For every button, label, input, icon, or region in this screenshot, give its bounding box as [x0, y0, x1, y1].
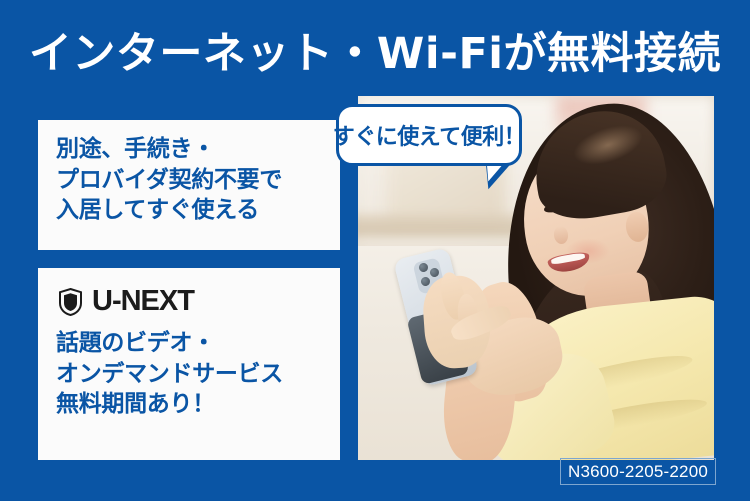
property-code: N3600-2205-2200	[568, 462, 708, 482]
unext-card: U-NEXT 話題のビデオ・ オンデマンドサービス 無料期間あり！	[38, 268, 340, 460]
speech-bubble-text: すぐに使えて便利！	[333, 119, 525, 151]
no-contract-card: 別途、手続き・ プロバイダ契約不要で 入居してすぐ使える	[38, 120, 340, 250]
wifi-promo-banner: インターネット・Wi-Fiが無料接続 別途、手続き・ プロバイダ契約不要で 入居…	[0, 0, 750, 501]
shield-icon	[58, 288, 83, 316]
unext-logo: U-NEXT	[58, 287, 322, 316]
unext-card-text: 話題のビデオ・ オンデマンドサービス 無料期間あり！	[56, 328, 322, 420]
property-code-box: N3600-2205-2200	[560, 458, 716, 485]
unext-logo-text: U-NEXT	[92, 287, 194, 316]
page-title: インターネット・Wi-Fiが無料接続	[0, 33, 750, 76]
speech-bubble: すぐに使えて便利！	[336, 104, 522, 166]
no-contract-card-text: 別途、手続き・ プロバイダ契約不要で 入居してすぐ使える	[56, 134, 322, 226]
